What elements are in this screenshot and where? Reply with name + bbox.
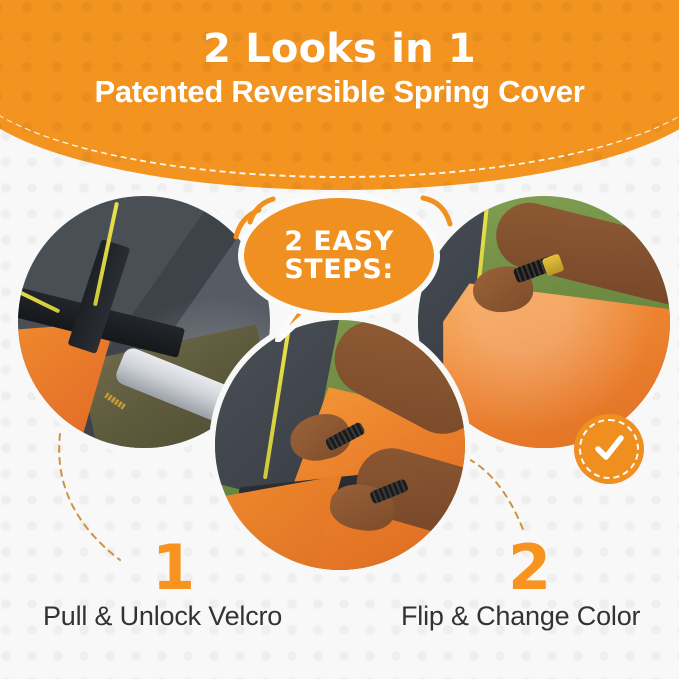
speech-bubble-text: 2 EASY STEPS: (284, 228, 394, 283)
status-badge-complete (574, 414, 644, 484)
banner-text-group: 2 Looks in 1 Patented Reversible Spring … (0, 0, 679, 110)
photo-hands-unfastening (215, 320, 465, 570)
step-2-number: 2 (508, 537, 551, 599)
callout-line-1: 2 EASY (284, 228, 394, 256)
callout-line-2: STEPS: (284, 256, 394, 284)
step-1-number: 1 (152, 537, 195, 599)
motion-line-icon-2 (232, 206, 262, 240)
page-subtitle: Patented Reversible Spring Cover (0, 74, 679, 110)
infographic-stage: 2 Looks in 1 Patented Reversible Spring … (0, 0, 679, 679)
step-1-caption: Pull & Unlock Velcro (43, 601, 282, 632)
step-2-caption: Flip & Change Color (401, 601, 640, 632)
page-title: 2 Looks in 1 (0, 26, 679, 72)
badge-dashed-ring (579, 419, 639, 479)
connector-curve-step-1 (52, 430, 242, 580)
motion-line-icon-3 (420, 194, 454, 228)
